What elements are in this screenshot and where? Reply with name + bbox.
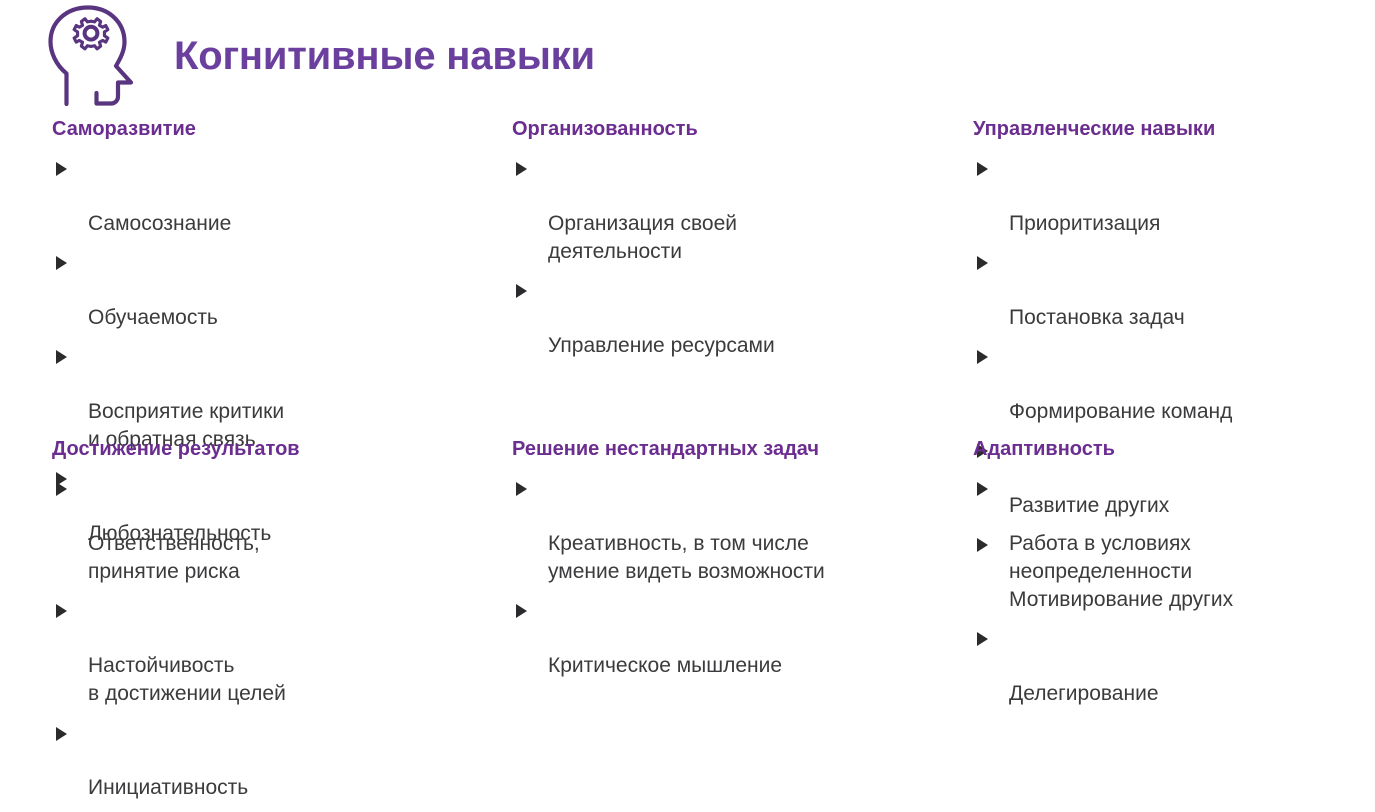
skill-label: Ответственность, принятие риска: [88, 532, 260, 583]
group-title: Достижение результатов: [52, 438, 492, 461]
skill-list: Работа в условиях неопределенности: [973, 473, 1363, 586]
list-item[interactable]: Приоритизация: [973, 153, 1363, 238]
list-item[interactable]: Формирование команд: [973, 341, 1363, 426]
triangle-bullet-icon: [56, 350, 67, 364]
list-item[interactable]: Обучаемость: [52, 247, 492, 332]
group-title: Управленческие навыки: [973, 118, 1363, 141]
group-title: Адаптивность: [973, 438, 1363, 461]
skill-label: Креативность, в том числе умение видеть …: [548, 532, 825, 583]
skill-group-upravlencheskie-navyki: Управленческие навыки Приоритизация Пост…: [973, 118, 1363, 717]
triangle-bullet-icon: [977, 256, 988, 270]
list-item[interactable]: Креативность, в том числе умение видеть …: [512, 473, 952, 586]
skill-label: Организация своей деятельности: [548, 212, 737, 263]
list-item[interactable]: Самосознание: [52, 153, 492, 238]
triangle-bullet-icon: [977, 632, 988, 646]
list-item[interactable]: Работа в условиях неопределенности: [973, 473, 1363, 586]
skill-list: Ответственность, принятие риска Настойчи…: [52, 473, 492, 803]
page-title: Когнитивные навыки: [174, 36, 595, 76]
skill-label: Инициативность: [88, 776, 248, 799]
list-item[interactable]: Критическое мышление: [512, 595, 952, 680]
skill-label: Работа в условиях неопределенности: [1009, 532, 1192, 583]
skill-label: Обучаемость: [88, 306, 218, 329]
skill-group-reshenie-nestandartnyh-zadach: Решение нестандартных задач Креативность…: [512, 438, 952, 689]
skill-label: Управление ресурсами: [548, 334, 775, 357]
triangle-bullet-icon: [977, 482, 988, 496]
list-item[interactable]: Постановка задач: [973, 247, 1363, 332]
skill-group-dostizhenie-rezultatov: Достижение результатов Ответственность, …: [52, 438, 492, 812]
list-item[interactable]: Инициативность: [52, 718, 492, 803]
group-title: Решение нестандартных задач: [512, 438, 952, 461]
skill-label: Критическое мышление: [548, 654, 782, 677]
skill-label: Постановка задач: [1009, 306, 1185, 329]
page-header: Когнитивные навыки: [44, 4, 595, 108]
skill-list: Организация своей деятельности Управлени…: [512, 153, 952, 360]
skill-label: Формирование команд: [1009, 400, 1232, 423]
skill-list: Приоритизация Постановка задач Формирова…: [973, 153, 1363, 708]
triangle-bullet-icon: [56, 482, 67, 496]
triangle-bullet-icon: [977, 350, 988, 364]
triangle-bullet-icon: [516, 482, 527, 496]
skill-list: Креативность, в том числе умение видеть …: [512, 473, 952, 680]
skill-label: Делегирование: [1009, 682, 1159, 705]
triangle-bullet-icon: [56, 727, 67, 741]
triangle-bullet-icon: [977, 162, 988, 176]
skill-label: Самосознание: [88, 212, 231, 235]
group-title: Организованность: [512, 118, 952, 141]
list-item[interactable]: Организация своей деятельности: [512, 153, 952, 266]
list-item[interactable]: Управление ресурсами: [512, 275, 952, 360]
skill-label: Приоритизация: [1009, 212, 1160, 235]
skill-group-adaptivnost: Адаптивность Работа в условиях неопредел…: [973, 438, 1363, 595]
triangle-bullet-icon: [56, 256, 67, 270]
triangle-bullet-icon: [56, 604, 67, 618]
list-item[interactable]: Настойчивость в достижении целей: [52, 595, 492, 708]
group-title: Саморазвитие: [52, 118, 492, 141]
triangle-bullet-icon: [516, 604, 527, 618]
head-with-gear-icon: [44, 4, 140, 108]
slide-root: Когнитивные навыки Саморазвитие Самосозн…: [0, 0, 1375, 698]
triangle-bullet-icon: [516, 162, 527, 176]
list-item[interactable]: Делегирование: [973, 623, 1363, 708]
skill-group-organizovannost: Организованность Организация своей деяте…: [512, 118, 952, 369]
triangle-bullet-icon: [56, 162, 67, 176]
list-item[interactable]: Ответственность, принятие риска: [52, 473, 492, 586]
triangle-bullet-icon: [516, 284, 527, 298]
